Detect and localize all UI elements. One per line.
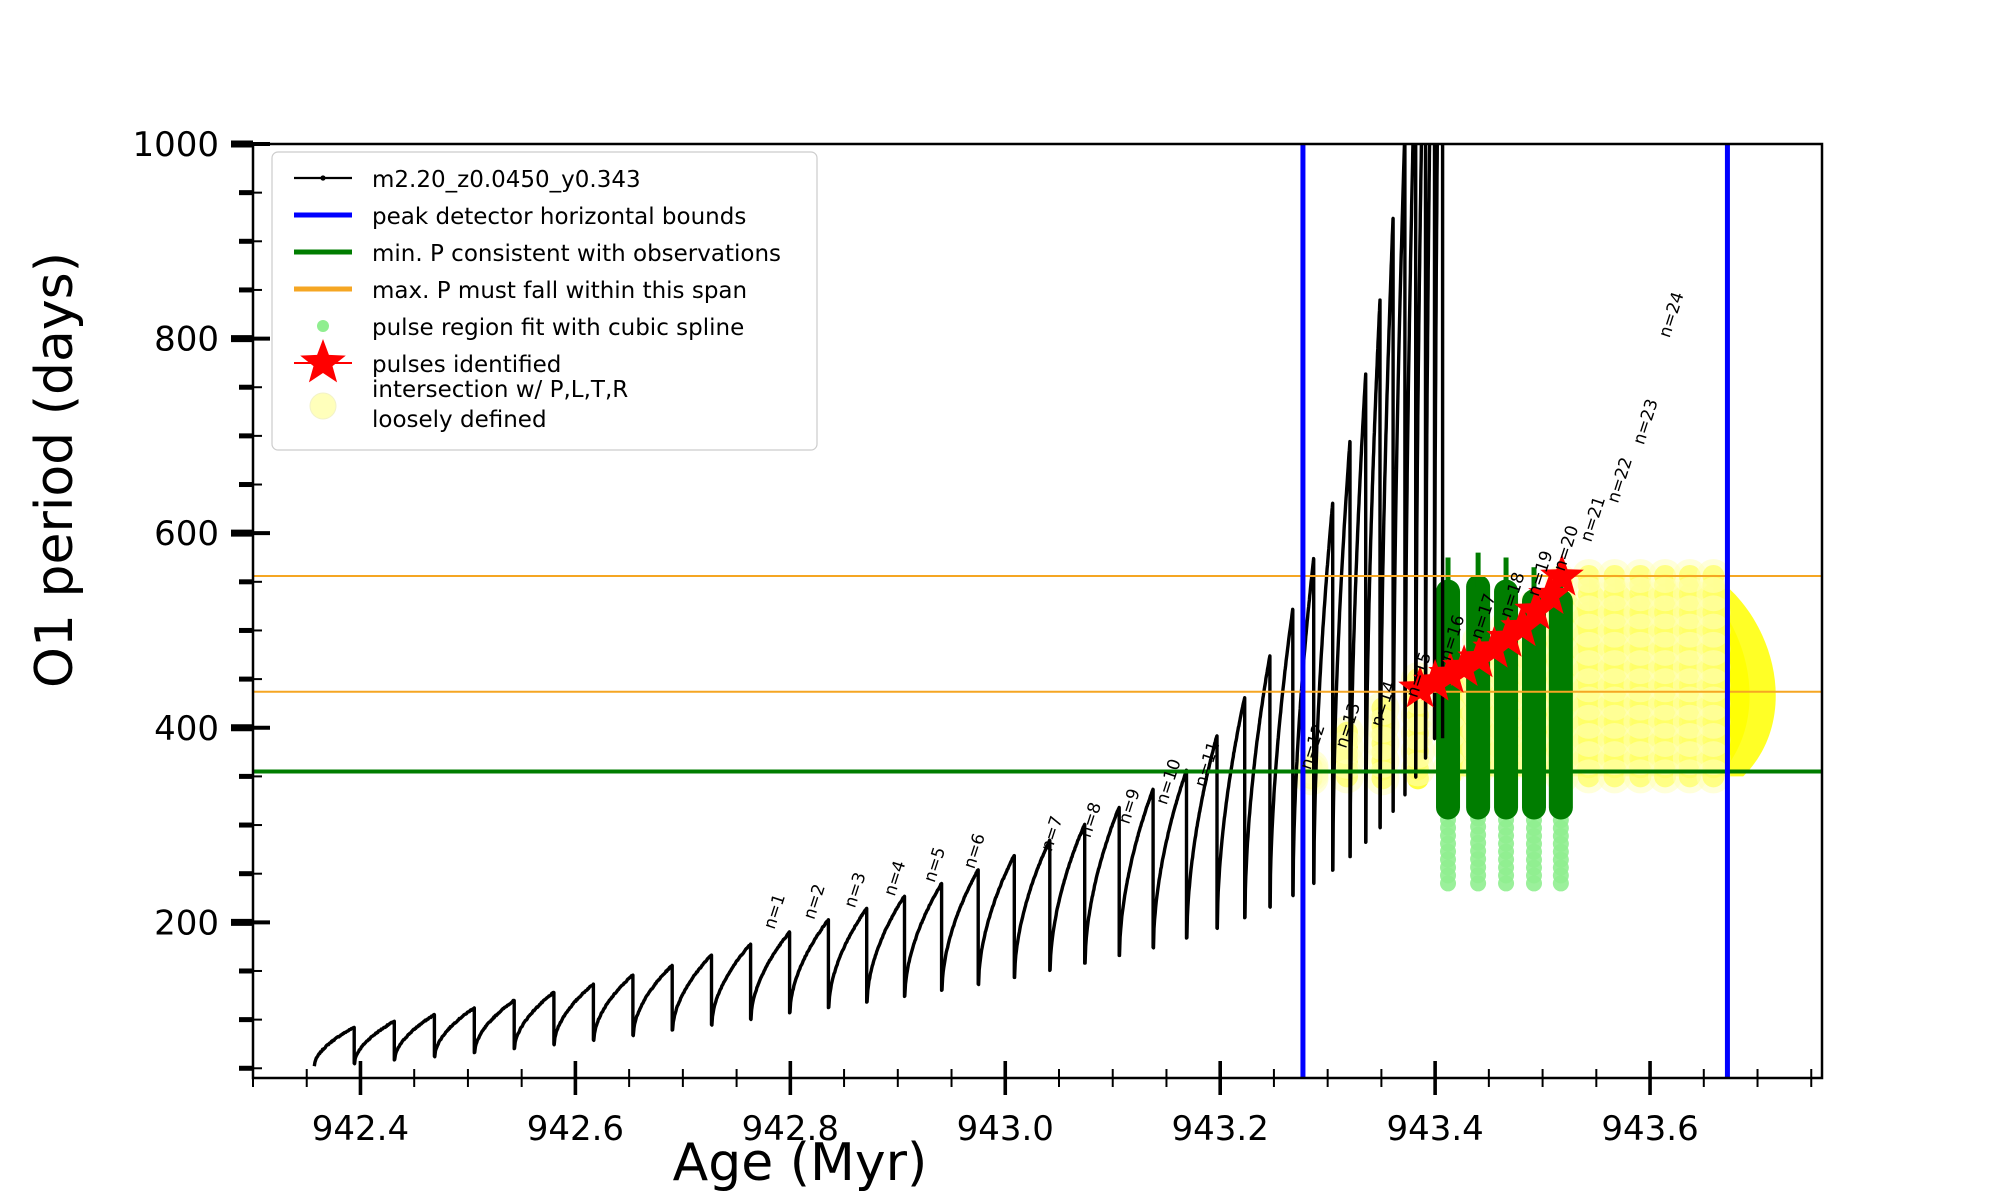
x-tick-label: 942.6 [527, 1109, 624, 1149]
legend-label: intersection w/ P,L,T,R [372, 377, 628, 403]
figure-canvas: O1 period (days) Age (Myr) n=1n=2n=3n=4n… [0, 0, 2000, 1200]
legend-swatch-dot [320, 175, 325, 180]
legend-label: m2.20_z0.0450_y0.343 [372, 167, 641, 193]
legend-label: pulses identified [372, 352, 561, 378]
x-tick-label: 943.0 [957, 1109, 1054, 1149]
legend-swatch-dot-large [310, 393, 336, 419]
legend-label: max. P must fall within this span [372, 278, 747, 304]
y-axis-title: O1 period (days) [25, 252, 85, 688]
legend-label: loosely defined [372, 407, 547, 433]
y-tick-label: 1000 [132, 125, 219, 165]
x-tick-label: 942.8 [742, 1109, 839, 1149]
y-tick-label: 400 [154, 709, 219, 749]
legend-label: min. P consistent with observations [372, 241, 781, 267]
y-tick-label: 200 [154, 903, 219, 943]
spline-point [1553, 875, 1569, 891]
legend-label: peak detector horizontal bounds [372, 204, 746, 230]
x-tick-label: 943.2 [1172, 1109, 1269, 1149]
legend-swatch-dot [317, 320, 329, 332]
x-tick-label: 942.4 [312, 1109, 409, 1149]
legend-label: pulse region fit with cubic spline [372, 315, 744, 341]
legend-entry: pulse region fit with cubic spline [317, 315, 744, 341]
chart-legend: m2.20_z0.0450_y0.343peak detector horizo… [272, 152, 817, 450]
y-tick-label: 800 [154, 320, 219, 360]
spline-point [1526, 875, 1542, 891]
x-tick-label: 943.4 [1386, 1109, 1483, 1149]
spline-point [1470, 875, 1486, 891]
x-tick-label: 943.6 [1601, 1109, 1698, 1149]
spline-point [1498, 875, 1514, 891]
chart-svg: O1 period (days) Age (Myr) n=1n=2n=3n=4n… [0, 0, 2000, 1200]
y-tick-label: 600 [154, 514, 219, 554]
spline-point [1440, 875, 1456, 891]
